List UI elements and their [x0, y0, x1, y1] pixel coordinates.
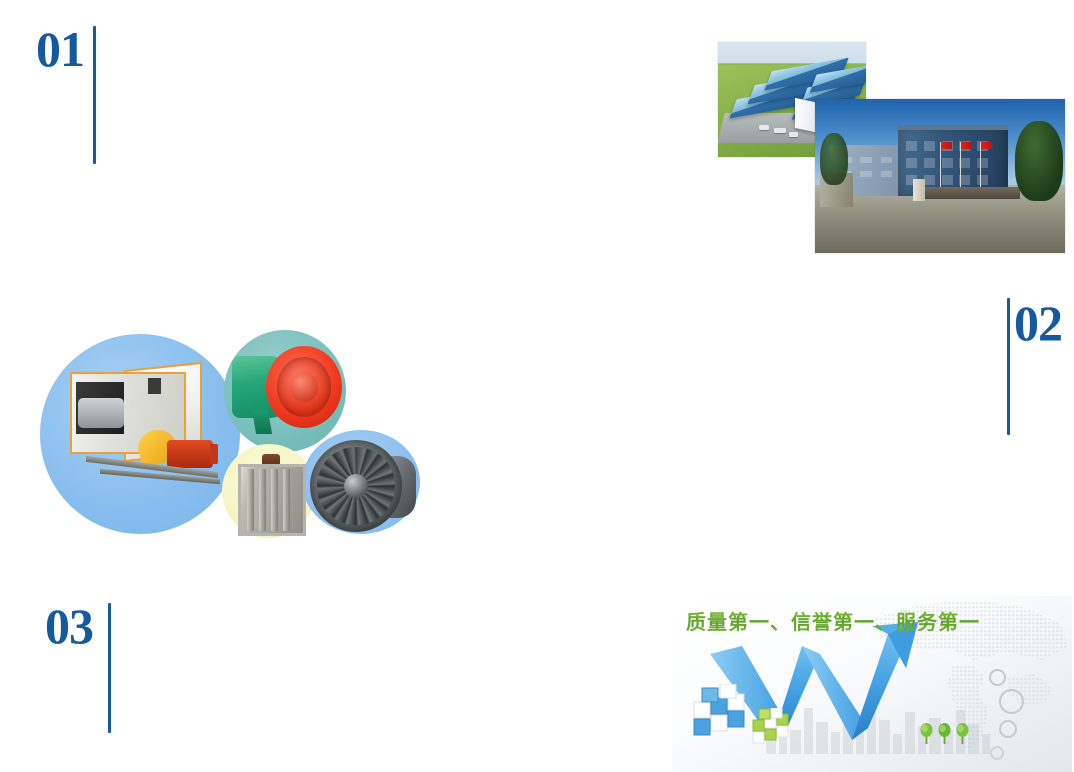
- product-metal-axial-fan: [310, 440, 420, 538]
- tree-icon: [956, 722, 969, 744]
- red-flag: [941, 142, 952, 149]
- window: [977, 158, 988, 168]
- window: [860, 171, 872, 177]
- axial-fan-hub: [290, 372, 318, 402]
- damper-blade: [271, 469, 278, 531]
- tree-icon: [920, 722, 933, 744]
- window: [906, 158, 917, 168]
- slogan-text: 质量第一、信誉第一、服务第一: [686, 606, 980, 635]
- window: [881, 157, 893, 163]
- section-number-01: 01: [36, 24, 84, 74]
- damper-blade: [259, 469, 266, 531]
- window: [977, 175, 988, 185]
- window: [942, 175, 953, 185]
- product-cabinet-centrifugal-fan: [64, 364, 224, 499]
- photo-boundary-wall: [915, 187, 1020, 199]
- metal-fan-hub: [344, 474, 368, 498]
- bubble-circle: [989, 669, 1006, 686]
- office-building-photo-image: [815, 99, 1065, 253]
- window: [924, 158, 935, 168]
- tree: [1015, 121, 1063, 201]
- bubble-circle: [999, 720, 1017, 738]
- section-rule-02: [1007, 298, 1010, 435]
- window: [906, 141, 917, 151]
- red-flag: [981, 142, 992, 149]
- page-canvas: 01 02 03: [0, 0, 1074, 772]
- photo-roofline: [898, 125, 1008, 130]
- section-number-03: 03: [45, 601, 93, 651]
- damper-frame: [238, 464, 306, 536]
- bubble-circle: [990, 746, 1004, 760]
- render-truck-1: [759, 125, 769, 130]
- red-flag: [961, 142, 972, 149]
- cabinet-fan-wheel: [78, 398, 124, 428]
- bubble-circle: [999, 689, 1024, 714]
- section-rule-03: [108, 603, 111, 733]
- product-axial-flow-fan: [230, 340, 346, 442]
- section-number-02: 02: [1014, 298, 1062, 348]
- render-truck-3: [789, 132, 798, 137]
- damper-blade: [283, 469, 290, 531]
- product-fire-damper: [234, 452, 306, 534]
- tree-icon: [938, 722, 951, 744]
- tree: [820, 133, 848, 185]
- window: [924, 141, 935, 151]
- blue-cube-graphic: [692, 684, 752, 742]
- photo-gate-pillar: [913, 179, 926, 201]
- quality-slogan-banner: 质量第一、信誉第一、服务第一: [672, 596, 1072, 772]
- cabinet-control-panel: [148, 378, 161, 394]
- product-image-cluster: [34, 312, 434, 562]
- window: [924, 175, 935, 185]
- damper-blade: [247, 469, 254, 531]
- cabinet-motor: [167, 440, 213, 468]
- green-cube-graphic: [752, 708, 792, 746]
- window: [881, 171, 893, 177]
- window: [860, 157, 872, 163]
- window: [942, 158, 953, 168]
- section-rule-01: [93, 26, 96, 164]
- render-truck-2: [774, 128, 786, 133]
